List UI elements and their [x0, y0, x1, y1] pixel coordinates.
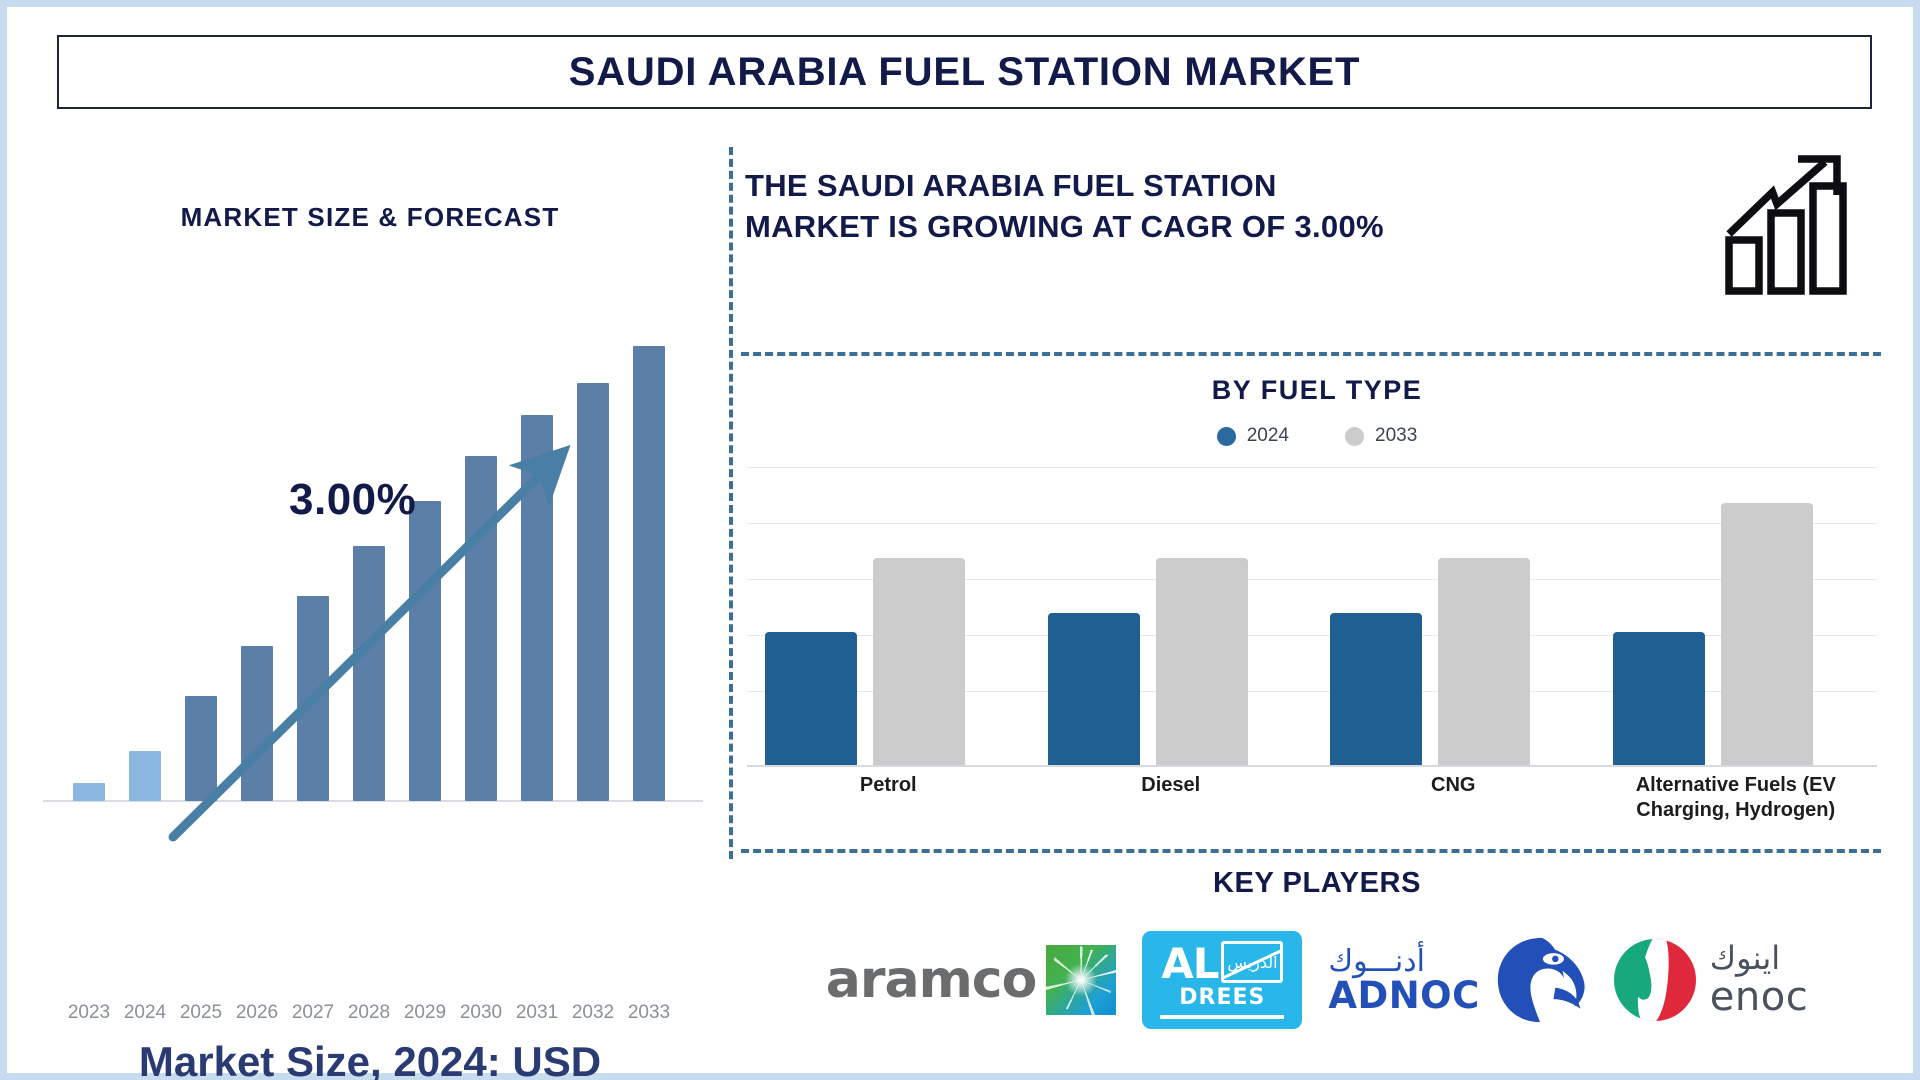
fuel-bar-group — [1030, 485, 1313, 765]
year-label: 2025 — [173, 1002, 229, 1024]
logo-enoc: اينوك enoc — [1614, 939, 1808, 1021]
growth-statement: THE SAUDI ARABIA FUEL STATION MARKET IS … — [745, 165, 1675, 247]
fuel-type-category-labels: PetrolDieselCNGAlternative Fuels (EV Cha… — [747, 773, 1877, 843]
page-title: SAUDI ARABIA FUEL STATION MARKET — [569, 50, 1361, 95]
fuel-bar-2024 — [1613, 632, 1705, 765]
left-chart-bars — [43, 301, 703, 801]
adnoc-text: أدنـــوك ADNOC — [1328, 947, 1479, 1014]
fuel-category-label: CNG — [1312, 773, 1595, 798]
fuel-bar-2033 — [1156, 558, 1248, 765]
market-size-line-1: Market Size, 2024: USD — [139, 1038, 601, 1080]
enoc-flame-icon — [1614, 939, 1696, 1021]
fuel-bar-2033 — [873, 558, 965, 765]
adnoc-falcon-icon — [1492, 934, 1588, 1026]
aldrees-arabic-text: الدريس — [1227, 953, 1277, 972]
forecast-bar — [409, 501, 441, 801]
fuel-category-label: Diesel — [1030, 773, 1313, 798]
fuel-chart-baseline — [747, 765, 1877, 767]
forecast-bar — [633, 346, 665, 801]
fuel-type-panel: THE SAUDI ARABIA FUEL STATION MARKET IS … — [737, 137, 1897, 1057]
adnoc-english-text: ADNOC — [1328, 977, 1479, 1014]
aldrees-drees-text: DREES — [1179, 985, 1265, 1010]
fuel-type-legend: 20242033 — [737, 425, 1897, 447]
fuel-bar-group — [1312, 485, 1595, 765]
legend-item-2033[interactable]: 2033 — [1345, 425, 1417, 447]
divider-bottom — [741, 849, 1881, 853]
forecast-bar — [353, 546, 385, 801]
adnoc-arabic-text: أدنـــوك — [1328, 947, 1425, 977]
legend-item-2024[interactable]: 2024 — [1217, 425, 1289, 447]
logo-adnoc: أدنـــوك ADNOC — [1328, 934, 1587, 1026]
fuel-bar-2024 — [1330, 613, 1422, 765]
fuel-bar-2024 — [765, 632, 857, 765]
title-box: SAUDI ARABIA FUEL STATION MARKET — [57, 35, 1872, 109]
forecast-bar — [465, 456, 497, 801]
forecast-bar — [73, 783, 105, 801]
year-label: 2023 — [61, 1002, 117, 1024]
fuel-bar-group — [1595, 485, 1878, 765]
legend-swatch-icon — [1217, 427, 1236, 446]
enoc-english-text: enoc — [1710, 976, 1808, 1018]
year-label: 2032 — [565, 1002, 621, 1024]
left-cagr-label: 3.00% — [289, 475, 416, 525]
key-players-heading: KEY PLAYERS — [737, 867, 1897, 900]
forecast-bar — [241, 646, 273, 801]
fuel-category-label: Petrol — [747, 773, 1030, 798]
logo-aramco: aramco — [826, 945, 1117, 1015]
growth-statement-line-1: THE SAUDI ARABIA FUEL STATION — [745, 168, 1277, 203]
fuel-bar-group — [747, 485, 1030, 765]
forecast-bar — [185, 696, 217, 801]
forecast-bar — [129, 751, 161, 801]
market-size-forecast-heading: MARKET SIZE & FORECAST — [25, 202, 715, 233]
legend-swatch-icon — [1345, 427, 1364, 446]
aldrees-al-text: AL — [1161, 945, 1218, 983]
year-label: 2027 — [285, 1002, 341, 1024]
aramco-wordmark: aramco — [826, 950, 1037, 1010]
growth-statement-line-2: MARKET IS GROWING AT CAGR OF 3.00% — [745, 209, 1384, 244]
market-size-value: Market Size, 2024: USD ~820.50 Million — [25, 1035, 715, 1080]
aramco-star-icon — [1046, 945, 1116, 1015]
fuel-bar-2033 — [1438, 558, 1530, 765]
year-label: 2028 — [341, 1002, 397, 1024]
aldrees-top-row: AL الدريس — [1161, 941, 1283, 983]
infographic-root: SAUDI ARABIA FUEL STATION MARKET MARKET … — [0, 0, 1920, 1080]
year-label: 2024 — [117, 1002, 173, 1024]
aldrees-underline — [1160, 1015, 1284, 1019]
year-label: 2033 — [621, 1002, 677, 1024]
forecast-bar — [297, 596, 329, 801]
fuel-category-label: Alternative Fuels (EV Charging, Hydrogen… — [1595, 773, 1878, 823]
year-label: 2031 — [509, 1002, 565, 1024]
forecast-bar — [577, 383, 609, 801]
gridline — [747, 467, 1877, 468]
legend-label: 2024 — [1247, 425, 1289, 447]
key-players-logos: aramco AL الدريس DREES أدنـــوك ADNOC — [737, 915, 1897, 1045]
forecast-bar — [521, 415, 553, 801]
fuel-bar-2024 — [1048, 613, 1140, 765]
fuel-type-chart — [747, 467, 1877, 767]
left-chart-year-labels: 2023202420252026202720282029203020312032… — [43, 1002, 703, 1030]
year-label: 2026 — [229, 1002, 285, 1024]
year-label: 2029 — [397, 1002, 453, 1024]
logo-aldrees: AL الدريس DREES — [1142, 931, 1302, 1029]
bar-growth-arrow-icon — [1717, 147, 1867, 297]
year-label: 2030 — [453, 1002, 509, 1024]
market-size-forecast-panel: MARKET SIZE & FORECAST 3.00% 20232024202… — [25, 137, 715, 1057]
enoc-arabic-text: اينوك — [1710, 942, 1780, 976]
divider-top — [741, 352, 1881, 356]
fuel-bar-2033 — [1721, 503, 1813, 765]
legend-label: 2033 — [1375, 425, 1417, 447]
vertical-divider — [729, 147, 733, 859]
enoc-text: اينوك enoc — [1710, 942, 1808, 1018]
by-fuel-type-heading: BY FUEL TYPE — [737, 375, 1897, 406]
aldrees-arabic-badge-icon: الدريس — [1221, 941, 1283, 983]
market-size-forecast-chart: 3.00% — [43, 287, 703, 837]
